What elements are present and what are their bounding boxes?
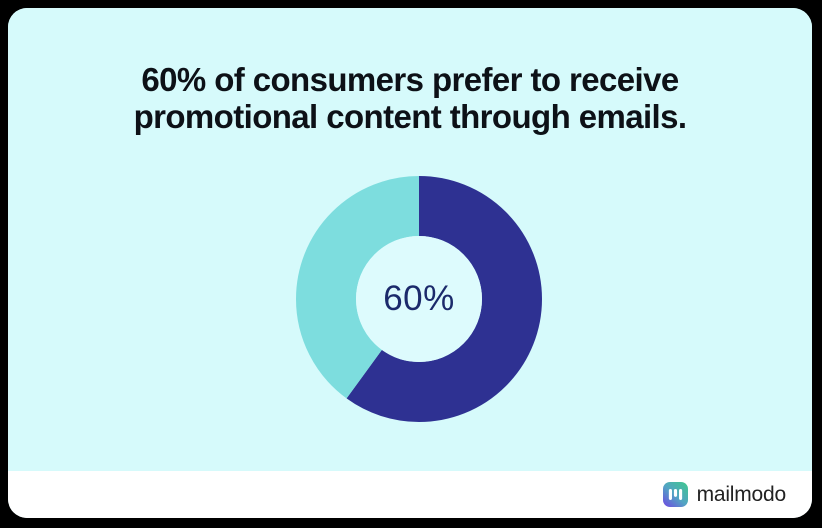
card-footer: mailmodo — [8, 471, 812, 518]
donut-chart-svg — [296, 176, 542, 422]
page-title: 60% of consumers prefer to receive promo… — [8, 61, 812, 135]
page-title-line-1: 60% of consumers prefer to receive — [78, 61, 742, 98]
donut-chart: 60% — [296, 176, 542, 422]
mailmodo-logo-icon — [663, 482, 688, 507]
brand-name: mailmodo — [697, 484, 786, 505]
donut-hole — [356, 236, 482, 362]
brand-lockup: mailmodo — [663, 482, 786, 507]
infographic-card: 60% of consumers prefer to receive promo… — [8, 8, 812, 518]
card-body: 60% of consumers prefer to receive promo… — [8, 8, 812, 471]
screenshot-canvas: 60% of consumers prefer to receive promo… — [0, 0, 822, 528]
page-title-line-2: promotional content through emails. — [78, 98, 742, 135]
